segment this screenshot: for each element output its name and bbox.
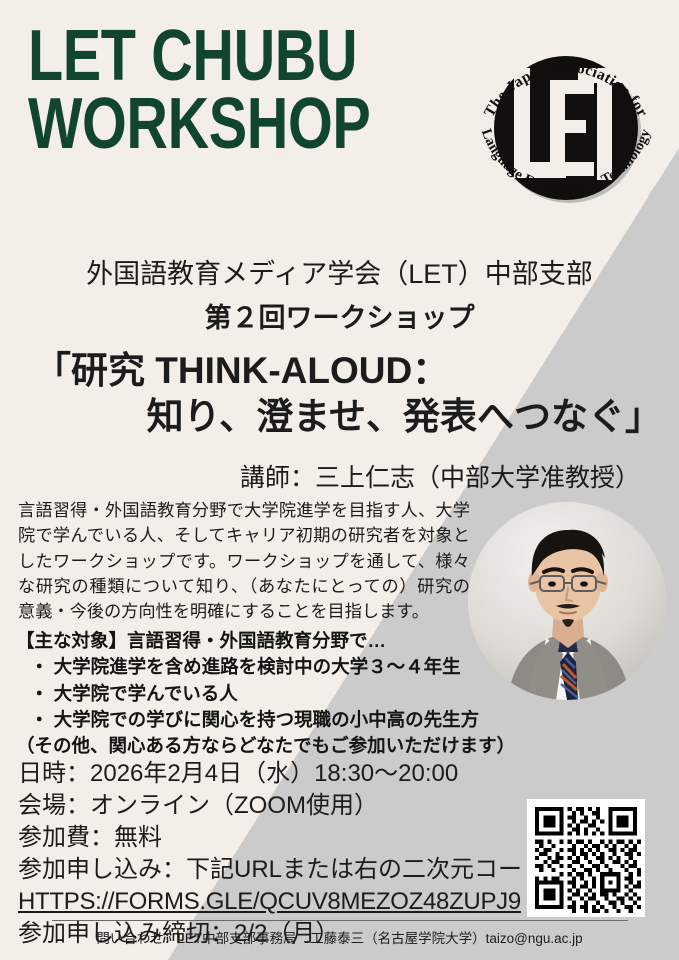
footer-contact: 問い合わせ：LET中部支部事務局 工藤泰三（名古屋学院大学）taizo@ngu.… — [0, 927, 679, 947]
audience-note: （その他、関心ある方ならどなたでもご参加いただけます） — [16, 733, 516, 759]
detail-venue: 会場：オンライン（ZOOM使用） — [18, 790, 538, 822]
audience-item: ・ 大学院での学びに関心を持つ現職の小中高の先生方 — [16, 707, 516, 733]
description-paragraph: 言語習得・外国語教育分野で大学院進学を目指す人、大学院で学んでいる人、そしてキャ… — [18, 498, 470, 624]
workshop-title-line-1: 「研究 THINK-ALOUD： — [22, 348, 662, 394]
workshop-title-line-2: 知り、澄ませ、発表へつなぐ」 — [22, 394, 662, 440]
detail-fee: 参加費：無料 — [18, 822, 538, 854]
session-line: 第２回ワークショップ — [0, 296, 679, 335]
audience-item: ・ 大学院進学を含め進路を検討中の大学３～４年生 — [16, 654, 516, 680]
audience-heading: 【主な対象】言語習得・外国語教育分野で… — [16, 628, 516, 654]
poster-root: LET CHUBU WORKSHOP — [0, 0, 679, 960]
let-association-logo: The Japan Association for Language Educa… — [466, 28, 666, 228]
detail-registration: 参加申し込み：下記URLまたは右の二次元コードより — [18, 854, 538, 886]
footer-divider — [52, 920, 628, 921]
headline-line-1: LET CHUBU — [28, 22, 380, 90]
registration-qr-code[interactable] — [527, 799, 645, 917]
page-title: LET CHUBU WORKSHOP — [28, 22, 380, 159]
speaker-line: 講師：三上仁志（中部大学准教授） — [0, 458, 640, 494]
registration-url-link[interactable]: HTTPS://FORMS.GLE/QCUV8MEZOZ48ZUPJ9 — [18, 886, 521, 918]
headline-line-2: WORKSHOP — [28, 90, 380, 158]
target-audience-block: 【主な対象】言語習得・外国語教育分野で… ・ 大学院進学を含め進路を検討中の大学… — [16, 628, 516, 759]
workshop-title: 「研究 THINK-ALOUD： 知り、澄ませ、発表へつなぐ」 — [22, 348, 662, 441]
organization-line: 外国語教育メディア学会（LET）中部支部 — [0, 252, 679, 291]
detail-datetime: 日時：2026年2月4日（水）18:30〜20:00 — [18, 758, 538, 790]
audience-item: ・ 大学院で学んでいる人 — [16, 681, 516, 707]
